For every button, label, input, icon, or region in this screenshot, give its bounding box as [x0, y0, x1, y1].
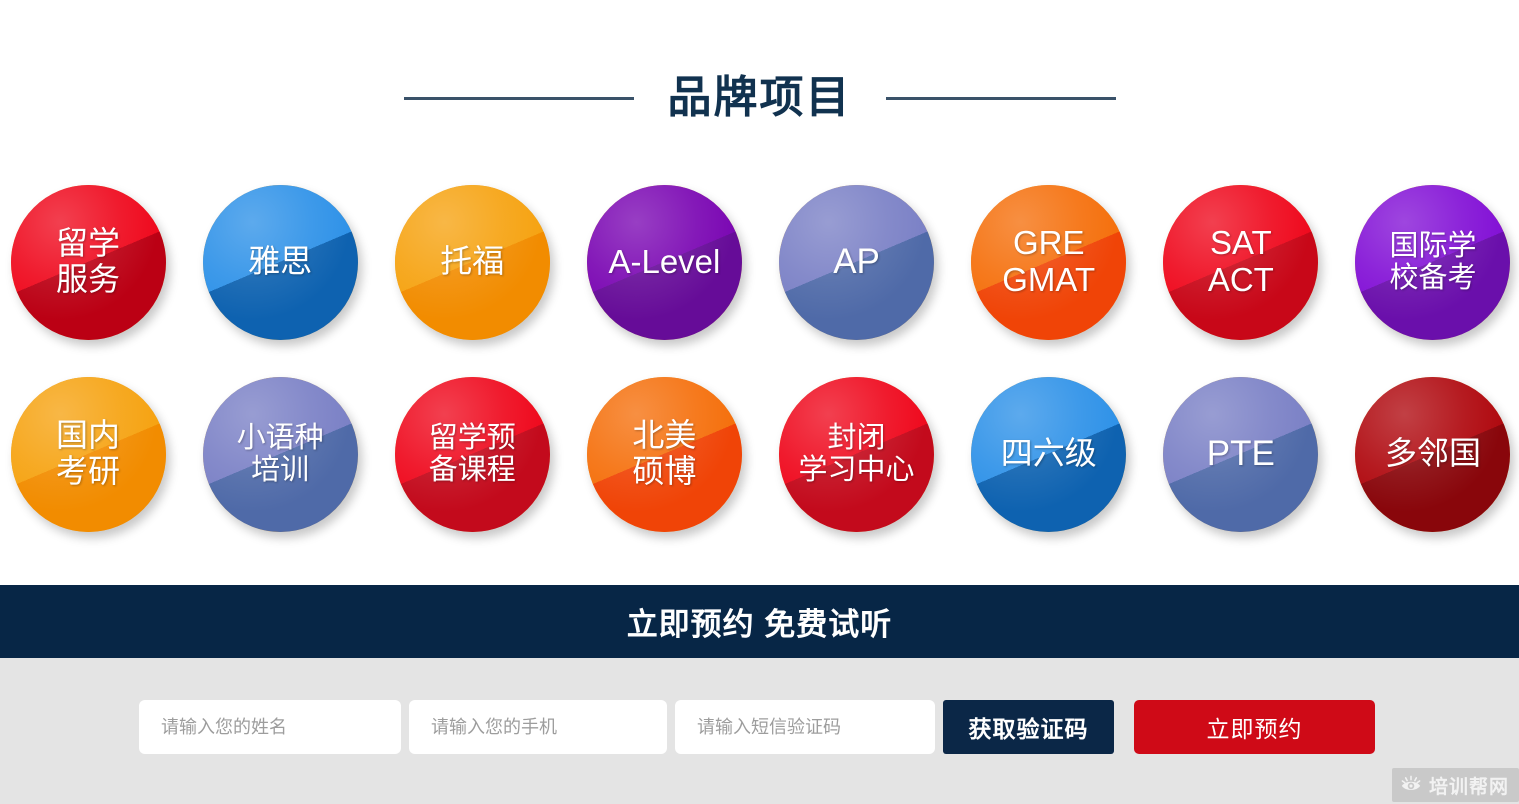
name-input[interactable]	[139, 700, 401, 754]
program-circle-label: 四六级	[1001, 436, 1097, 472]
program-row-2: 国内 考研小语种 培训留学预 备课程北美 硕博封闭 学习中心四六级PTE多邻国	[8, 374, 1513, 534]
sms-code-input[interactable]	[675, 700, 935, 754]
program-circle-label: 小语种 培训	[237, 422, 324, 487]
program-circle-body[interactable]: SAT ACT	[1163, 185, 1318, 340]
program-circle-body[interactable]: 留学预 备课程	[395, 377, 550, 532]
title-rule-left	[404, 97, 634, 100]
page-title-row: 品牌项目	[0, 58, 1519, 138]
program-circle-body[interactable]: 多邻国	[1355, 377, 1510, 532]
program-circle-label: AP	[833, 242, 880, 281]
program-circle-body[interactable]: 北美 硕博	[587, 377, 742, 532]
program-circle-body[interactable]: GRE GMAT	[971, 185, 1126, 340]
program-circle-label: GRE GMAT	[1002, 225, 1095, 299]
program-circle[interactable]: 小语种 培训	[200, 374, 360, 534]
cta-banner: 立即预约 免费试听	[0, 585, 1519, 658]
program-circle-body[interactable]: 托福	[395, 185, 550, 340]
program-circle-label: PTE	[1207, 434, 1275, 473]
program-circle[interactable]: GRE GMAT	[969, 182, 1129, 342]
program-circle[interactable]: 国际学 校备考	[1353, 182, 1513, 342]
cta-banner-text: 立即预约 免费试听	[627, 599, 893, 644]
get-code-button[interactable]: 获取验证码	[943, 700, 1114, 754]
program-circle-body[interactable]: 国内 考研	[11, 377, 166, 532]
program-circle[interactable]: 封闭 学习中心	[777, 374, 937, 534]
program-circle[interactable]: 四六级	[969, 374, 1129, 534]
booking-form-strip: 获取验证码 立即预约	[0, 658, 1519, 804]
program-circle-label: 留学 服务	[56, 226, 120, 298]
program-circle-label: 留学预 备课程	[429, 422, 516, 487]
program-circle-body[interactable]: 小语种 培训	[203, 377, 358, 532]
program-circle-body[interactable]: PTE	[1163, 377, 1318, 532]
phone-input[interactable]	[409, 700, 667, 754]
program-circle[interactable]: 雅思	[200, 182, 360, 342]
program-circle-label: A-Level	[608, 244, 720, 281]
program-circle-body[interactable]: 四六级	[971, 377, 1126, 532]
program-row-1: 留学 服务雅思托福A-LevelAPGRE GMATSAT ACT国际学 校备考	[8, 182, 1513, 342]
watermark-text: 培训帮网	[1429, 772, 1509, 799]
program-circle-body[interactable]: A-Level	[587, 185, 742, 340]
program-circle[interactable]: A-Level	[584, 182, 744, 342]
program-circle[interactable]: 留学 服务	[8, 182, 168, 342]
title-rule-right	[886, 97, 1116, 100]
program-circle-body[interactable]: 国际学 校备考	[1355, 185, 1510, 340]
program-circle[interactable]: 多邻国	[1353, 374, 1513, 534]
program-circle[interactable]: 国内 考研	[8, 374, 168, 534]
submit-booking-button[interactable]: 立即预约	[1134, 700, 1375, 754]
program-grid: 留学 服务雅思托福A-LevelAPGRE GMATSAT ACT国际学 校备考…	[8, 182, 1513, 534]
program-circle-label: 托福	[440, 244, 504, 280]
watermark: 培训帮网	[1392, 768, 1519, 802]
program-circle-label: 北美 硕博	[632, 418, 696, 490]
program-circle[interactable]: SAT ACT	[1161, 182, 1321, 342]
program-circle[interactable]: 托福	[392, 182, 552, 342]
booking-form: 获取验证码 立即预约	[139, 700, 1375, 754]
program-circle-body[interactable]: 留学 服务	[11, 185, 166, 340]
program-circle[interactable]: AP	[777, 182, 937, 342]
program-circle-label: 国际学 校备考	[1389, 230, 1476, 295]
program-circle[interactable]: 留学预 备课程	[392, 374, 552, 534]
program-circle-label: 雅思	[248, 244, 312, 280]
program-circle-body[interactable]: AP	[779, 185, 934, 340]
program-circle-label: 国内 考研	[56, 418, 120, 490]
program-circle-label: 封闭 学习中心	[799, 422, 915, 487]
program-circle-label: 多邻国	[1385, 436, 1481, 472]
program-circle[interactable]: 北美 硕博	[584, 374, 744, 534]
page-title: 品牌项目	[668, 76, 852, 120]
program-circle-body[interactable]: 封闭 学习中心	[779, 377, 934, 532]
eye-icon	[1400, 774, 1422, 796]
program-circle-body[interactable]: 雅思	[203, 185, 358, 340]
program-circle-label: SAT ACT	[1208, 225, 1274, 299]
program-circle[interactable]: PTE	[1161, 374, 1321, 534]
